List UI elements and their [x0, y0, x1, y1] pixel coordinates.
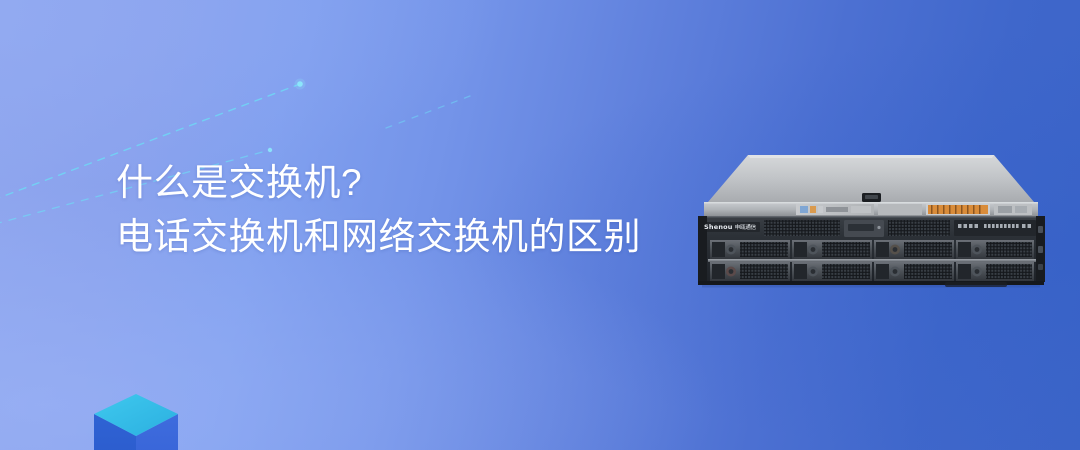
server-board-slot-1: [826, 207, 848, 212]
drive-bay-row-1: [710, 240, 1034, 259]
drive-bay-row-divider: [708, 259, 1036, 262]
server-lid-latch-grip: [865, 195, 878, 199]
drive-bay-7-vent: [904, 264, 952, 279]
drive-bay-8-knob-center: [975, 269, 980, 274]
server-brand-label: Shenou 申瓯通信: [704, 223, 756, 232]
server-shadow: [702, 285, 1040, 288]
drive-bay-3-knob-center: [893, 247, 898, 252]
drive-bay-2-latch[interactable]: [794, 242, 807, 257]
server-vent-grille-left: [764, 220, 840, 236]
drive-bay-3-latch[interactable]: [876, 242, 889, 257]
server-brand-name: Shenou: [704, 223, 733, 231]
server-vent-grille-mid: [888, 220, 950, 236]
drive-bay-5-vent: [740, 264, 788, 279]
drive-bay-7-knob-center: [893, 269, 898, 274]
server-board-chip-3: [818, 206, 823, 213]
drive-bay-1-latch[interactable]: [712, 242, 725, 257]
server-usb-port-lower[interactable]: [1038, 246, 1043, 253]
drive-bay-4-vent: [986, 242, 1032, 257]
headline-block: 什么是交换机? 电话交换机和网络交换机的区别: [116, 156, 641, 264]
server-vga-port[interactable]: [1038, 264, 1043, 270]
server-upper-rail-highlight: [704, 202, 1038, 204]
server-power-button[interactable]: [877, 226, 880, 229]
headline-line-2: 电话交换机和网络交换机的区别: [116, 210, 641, 264]
drive-bay-row-2: [710, 262, 1034, 281]
drive-bay-8-vent: [986, 264, 1032, 279]
headline-line-1: 什么是交换机?: [116, 156, 641, 210]
server-brand-name-cn: 申瓯通信: [735, 225, 756, 231]
server-board-slot-3: [998, 206, 1012, 213]
server-memory-banks: [926, 204, 990, 215]
server-internal-board-mid: [878, 204, 922, 215]
drive-bay-2-knob-center: [811, 247, 816, 252]
server-board-chip-2: [810, 206, 816, 213]
rack-server-image: Shenou 申瓯通信: [690, 154, 1052, 294]
server-usb-port-upper[interactable]: [1038, 226, 1043, 233]
drive-bay-4-latch[interactable]: [958, 242, 971, 257]
drive-bay-6-knob-center: [811, 269, 816, 274]
drive-bay-4-knob-center: [975, 247, 980, 252]
drive-bay-1-knob-center: [729, 247, 734, 252]
server-board-slot-4: [1015, 206, 1027, 213]
drive-bay-6-latch[interactable]: [794, 264, 807, 279]
drive-bay-6-vent: [822, 264, 870, 279]
drive-bay-5-latch[interactable]: [712, 264, 725, 279]
drive-bay-2-vent: [822, 242, 870, 257]
drive-bay-1-vent: [740, 242, 788, 257]
drive-bay-3-vent: [904, 242, 952, 257]
server-drive-bay-array: [708, 240, 1036, 281]
server-control-panel-display: [848, 224, 874, 231]
promo-banner: 什么是交换机? 电话交换机和网络交换机的区别: [0, 0, 1080, 450]
isometric-cube-logo: [92, 392, 180, 450]
server-bezel-top-edge: [698, 216, 1044, 217]
server-board-slot-2: [851, 206, 871, 213]
drive-bay-7-latch[interactable]: [876, 264, 889, 279]
drive-bay-8-latch[interactable]: [958, 264, 971, 279]
drive-bay-5-knob-center: [729, 269, 734, 274]
server-lid-highlight: [748, 155, 994, 158]
server-board-chip-1: [800, 206, 808, 213]
